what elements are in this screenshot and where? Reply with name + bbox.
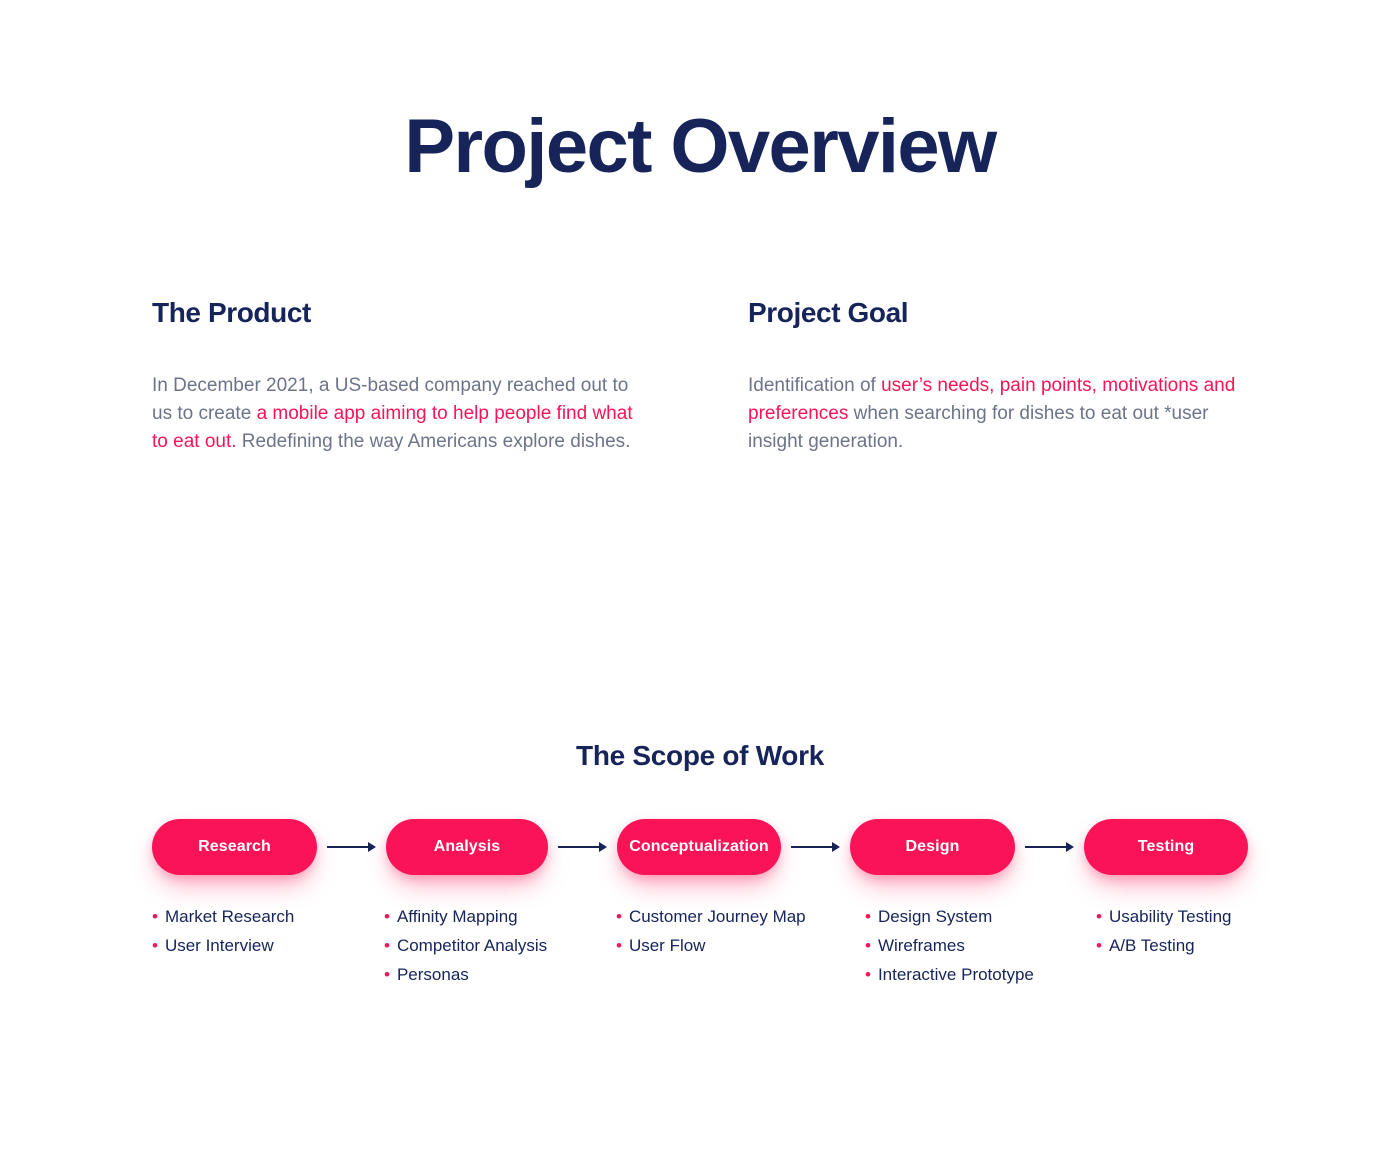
product-body: In December 2021, a US-based company rea… (152, 372, 652, 456)
bullet-dot-icon: • (616, 931, 622, 960)
scope-step-label: Design (906, 838, 960, 856)
product-column: The Product In December 2021, a US-based… (152, 296, 652, 456)
list-item: • User Flow (616, 931, 865, 960)
page-title: Project Overview (0, 99, 1400, 195)
list-item: • Customer Journey Map (616, 902, 865, 931)
deliverables-conceptualization: • Customer Journey Map • User Flow (616, 902, 865, 989)
list-item-label: Market Research (165, 902, 294, 931)
product-heading: The Product (152, 296, 652, 330)
list-item: • Wireframes (865, 931, 1096, 960)
goal-body-text-1: Identification of (748, 375, 881, 396)
list-item: • User Interview (152, 931, 384, 960)
deliverables-research: • Market Research • User Interview (152, 902, 384, 989)
list-item-label: User Flow (629, 931, 706, 960)
list-item-label: Design System (878, 902, 992, 931)
arrow-shaft (1025, 846, 1067, 848)
flow-arrow-1-icon (327, 841, 376, 853)
list-item-label: Usability Testing (1109, 902, 1232, 931)
bullet-dot-icon: • (384, 902, 390, 931)
bullet-dot-icon: • (1096, 902, 1102, 931)
arrow-head (599, 842, 607, 852)
list-item-label: Competitor Analysis (397, 931, 547, 960)
deliverables-design: • Design System • Wireframes • Interacti… (865, 902, 1096, 989)
list-item-label: Wireframes (878, 931, 965, 960)
arrow-head (832, 842, 840, 852)
list-item: • Affinity Mapping (384, 902, 616, 931)
list-item: • Personas (384, 960, 616, 989)
scope-step-research[interactable]: Research (152, 819, 317, 875)
scope-flow-diagram: Research Analysis Conceptualization Desi… (152, 818, 1248, 876)
scope-pill-row: Research Analysis Conceptualization Desi… (152, 818, 1248, 876)
list-item-label: A/B Testing (1109, 931, 1195, 960)
list-item-label: Interactive Prototype (878, 960, 1034, 989)
scope-step-testing[interactable]: Testing (1084, 819, 1248, 875)
product-body-text-2: Redefining the way Americans explore dis… (237, 431, 631, 452)
scope-deliverables: • Market Research • User Interview • Aff… (152, 902, 1312, 989)
list-item: • Design System (865, 902, 1096, 931)
bullet-dot-icon: • (152, 902, 158, 931)
bullet-dot-icon: • (1096, 931, 1102, 960)
list-item: • Market Research (152, 902, 384, 931)
arrow-shaft (791, 846, 833, 848)
intro-columns: The Product In December 2021, a US-based… (152, 296, 1252, 456)
list-item: • Competitor Analysis (384, 931, 616, 960)
bullet-dot-icon: • (865, 960, 871, 989)
scope-step-analysis[interactable]: Analysis (386, 819, 548, 875)
list-item-label: Customer Journey Map (629, 902, 806, 931)
scope-step-label: Research (198, 838, 271, 856)
scope-heading: The Scope of Work (0, 737, 1400, 775)
scope-step-design[interactable]: Design (850, 819, 1015, 875)
list-item-label: Affinity Mapping (397, 902, 518, 931)
list-item-label: User Interview (165, 931, 274, 960)
goal-column: Project Goal Identification of user’s ne… (748, 296, 1248, 456)
bullet-dot-icon: • (865, 931, 871, 960)
scope-step-label: Testing (1138, 838, 1194, 856)
bullet-dot-icon: • (384, 960, 390, 989)
arrow-shaft (327, 846, 369, 848)
flow-arrow-3-icon (791, 841, 840, 853)
bullet-dot-icon: • (616, 902, 622, 931)
scope-step-label: Analysis (434, 838, 501, 856)
flow-arrow-2-icon (558, 841, 607, 853)
scope-step-label: Conceptualization (629, 838, 768, 856)
deliverables-testing: • Usability Testing • A/B Testing (1096, 902, 1296, 989)
bullet-dot-icon: • (865, 902, 871, 931)
arrow-head (368, 842, 376, 852)
list-item: • Interactive Prototype (865, 960, 1096, 989)
list-item: • A/B Testing (1096, 931, 1296, 960)
goal-heading: Project Goal (748, 296, 1248, 330)
flow-arrow-4-icon (1025, 841, 1074, 853)
goal-body: Identification of user’s needs, pain poi… (748, 372, 1248, 456)
bullet-dot-icon: • (152, 931, 158, 960)
bullet-dot-icon: • (384, 931, 390, 960)
scope-step-conceptualization[interactable]: Conceptualization (617, 819, 781, 875)
arrow-head (1066, 842, 1074, 852)
deliverables-analysis: • Affinity Mapping • Competitor Analysis… (384, 902, 616, 989)
list-item-label: Personas (397, 960, 469, 989)
list-item: • Usability Testing (1096, 902, 1296, 931)
arrow-shaft (558, 846, 600, 848)
